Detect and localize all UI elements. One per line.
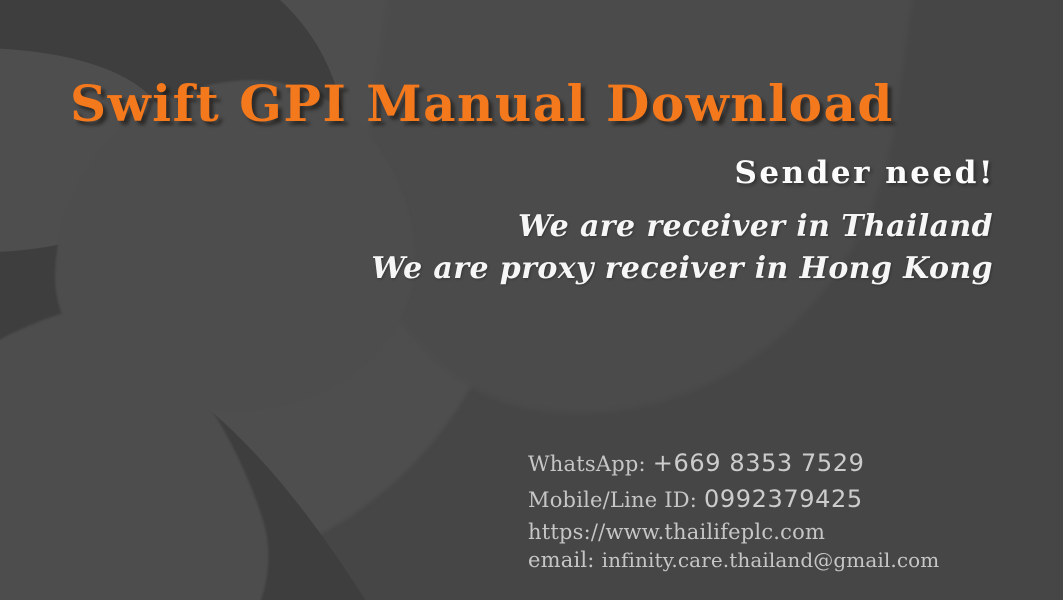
email-address[interactable]: infinity.care.thailand@gmail.com [602,548,940,572]
script-text-block: We are receiver in Thailand We are proxy… [371,206,993,290]
mobile-line-id-number[interactable]: 0992379425 [704,485,863,513]
email-label: email: [528,548,595,572]
contact-row-whatsapp: WhatsApp: +669 8353 7529 [528,449,939,477]
contact-row-email: email: infinity.care.thailand@gmail.com [528,548,939,572]
whatsapp-label: WhatsApp: [528,452,646,476]
contact-details-block: WhatsApp: +669 8353 7529 Mobile/Line ID:… [528,449,939,572]
contact-row-mobile-line-id: Mobile/Line ID: 0992379425 [528,485,939,513]
website-link[interactable]: https://www.thailifeplc.com [528,520,825,544]
contact-row-website: https://www.thailifeplc.com [528,520,939,544]
script-line-hong-kong: We are proxy receiver in Hong Kong [371,248,993,290]
slide-title: Swift GPI Manual Download [70,78,998,131]
mobile-line-id-label: Mobile/Line ID: [528,488,697,512]
slide-content: Swift GPI Manual Download Sender need! W… [0,0,1063,600]
script-line-thailand: We are receiver in Thailand [371,206,993,248]
whatsapp-number[interactable]: +669 8353 7529 [653,449,865,477]
presentation-slide: Swift GPI Manual Download Sender need! W… [0,0,1063,600]
slide-subtitle: Sender need! [735,155,995,191]
